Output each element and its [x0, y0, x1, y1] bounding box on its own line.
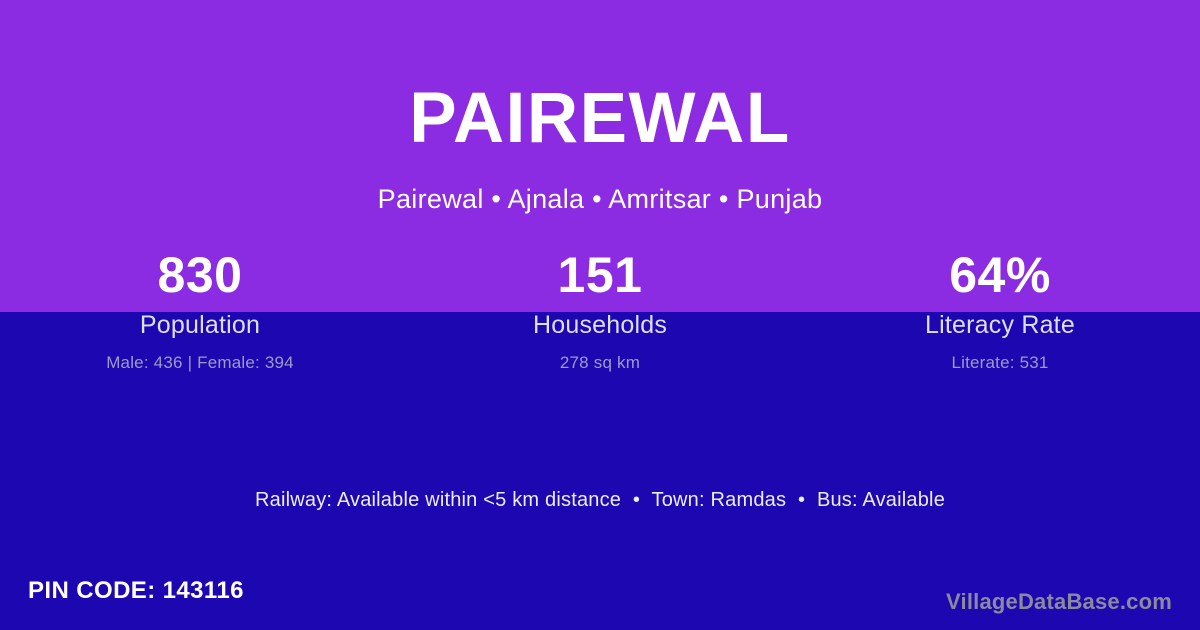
literacy-rate-value: 64%: [800, 245, 1200, 305]
population-value: 830: [0, 245, 400, 305]
village-info-card: PAIREWAL Pairewal • Ajnala • Amritsar • …: [0, 0, 1200, 630]
pin-code: PIN CODE: 143116: [28, 576, 244, 606]
railway-info: Railway: Available within <5 km distance: [255, 489, 621, 511]
page-title: PAIREWAL: [0, 83, 1200, 154]
households-value: 151: [400, 245, 800, 305]
households-label: Households: [400, 309, 800, 341]
population-label: Population: [0, 309, 400, 341]
literacy-rate-label: Literacy Rate: [800, 309, 1200, 341]
bus-info: Bus: Available: [817, 489, 945, 511]
literate-count: Literate: 531: [800, 351, 1200, 375]
population-gender-breakdown: Male: 436 | Female: 394: [0, 351, 400, 375]
amenity-separator-icon: •: [627, 489, 646, 511]
site-brand-watermark: VillageDataBase.com: [946, 588, 1172, 616]
stat-block-households: 151 Households 278 sq km: [400, 245, 800, 375]
stat-block-population: 830 Population Male: 436 | Female: 394: [0, 245, 400, 375]
amenities-summary: Railway: Available within <5 km distance…: [0, 487, 1200, 513]
amenity-separator-icon: •: [792, 489, 811, 511]
breadcrumb: Pairewal • Ajnala • Amritsar • Punjab: [0, 183, 1200, 215]
stat-block-literacy: 64% Literacy Rate Literate: 531: [800, 245, 1200, 375]
stats-row: 830 Population Male: 436 | Female: 394 1…: [0, 245, 1200, 375]
village-area: 278 sq km: [400, 351, 800, 375]
nearest-town-info: Town: Ramdas: [652, 489, 787, 511]
